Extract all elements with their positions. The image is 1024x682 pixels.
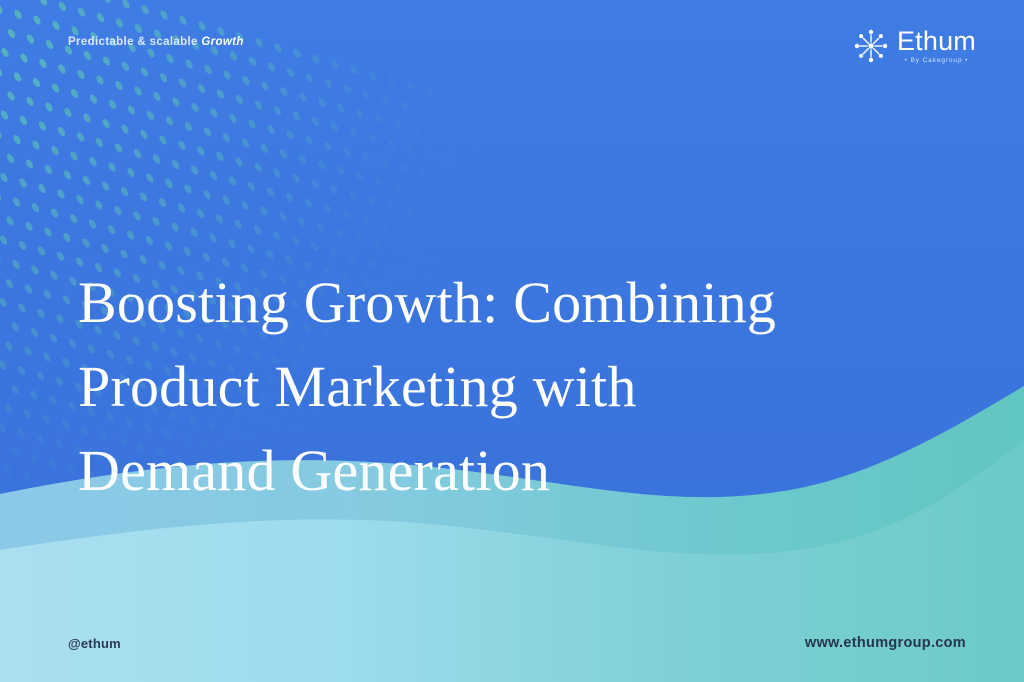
- logo-subtitle: • By Cakegroup •: [905, 58, 969, 65]
- logo-text-lockup: Ethum • By Cakegroup •: [897, 28, 976, 65]
- website-url: www.ethumgroup.com: [805, 635, 966, 651]
- social-handle: @ethum: [68, 636, 121, 651]
- title-line-3: Demand Generation: [78, 429, 918, 513]
- ethum-logo[interactable]: Ethum • By Cakegroup •: [851, 26, 976, 66]
- header-tagline: Predictable & scalable Growth: [68, 36, 244, 48]
- title-line-1: Boosting Growth: Combining: [78, 261, 918, 345]
- slide-canvas: Predictable & scalable Growth: [0, 0, 1024, 682]
- tagline-prefix: Predictable & scalable: [68, 36, 201, 48]
- tagline-accent: Growth: [201, 36, 243, 48]
- ethum-burst-icon: [851, 26, 891, 66]
- title-line-2: Product Marketing with: [78, 345, 918, 429]
- logo-wordmark: Ethum: [897, 28, 976, 55]
- page-title: Boosting Growth: Combining Product Marke…: [78, 261, 918, 513]
